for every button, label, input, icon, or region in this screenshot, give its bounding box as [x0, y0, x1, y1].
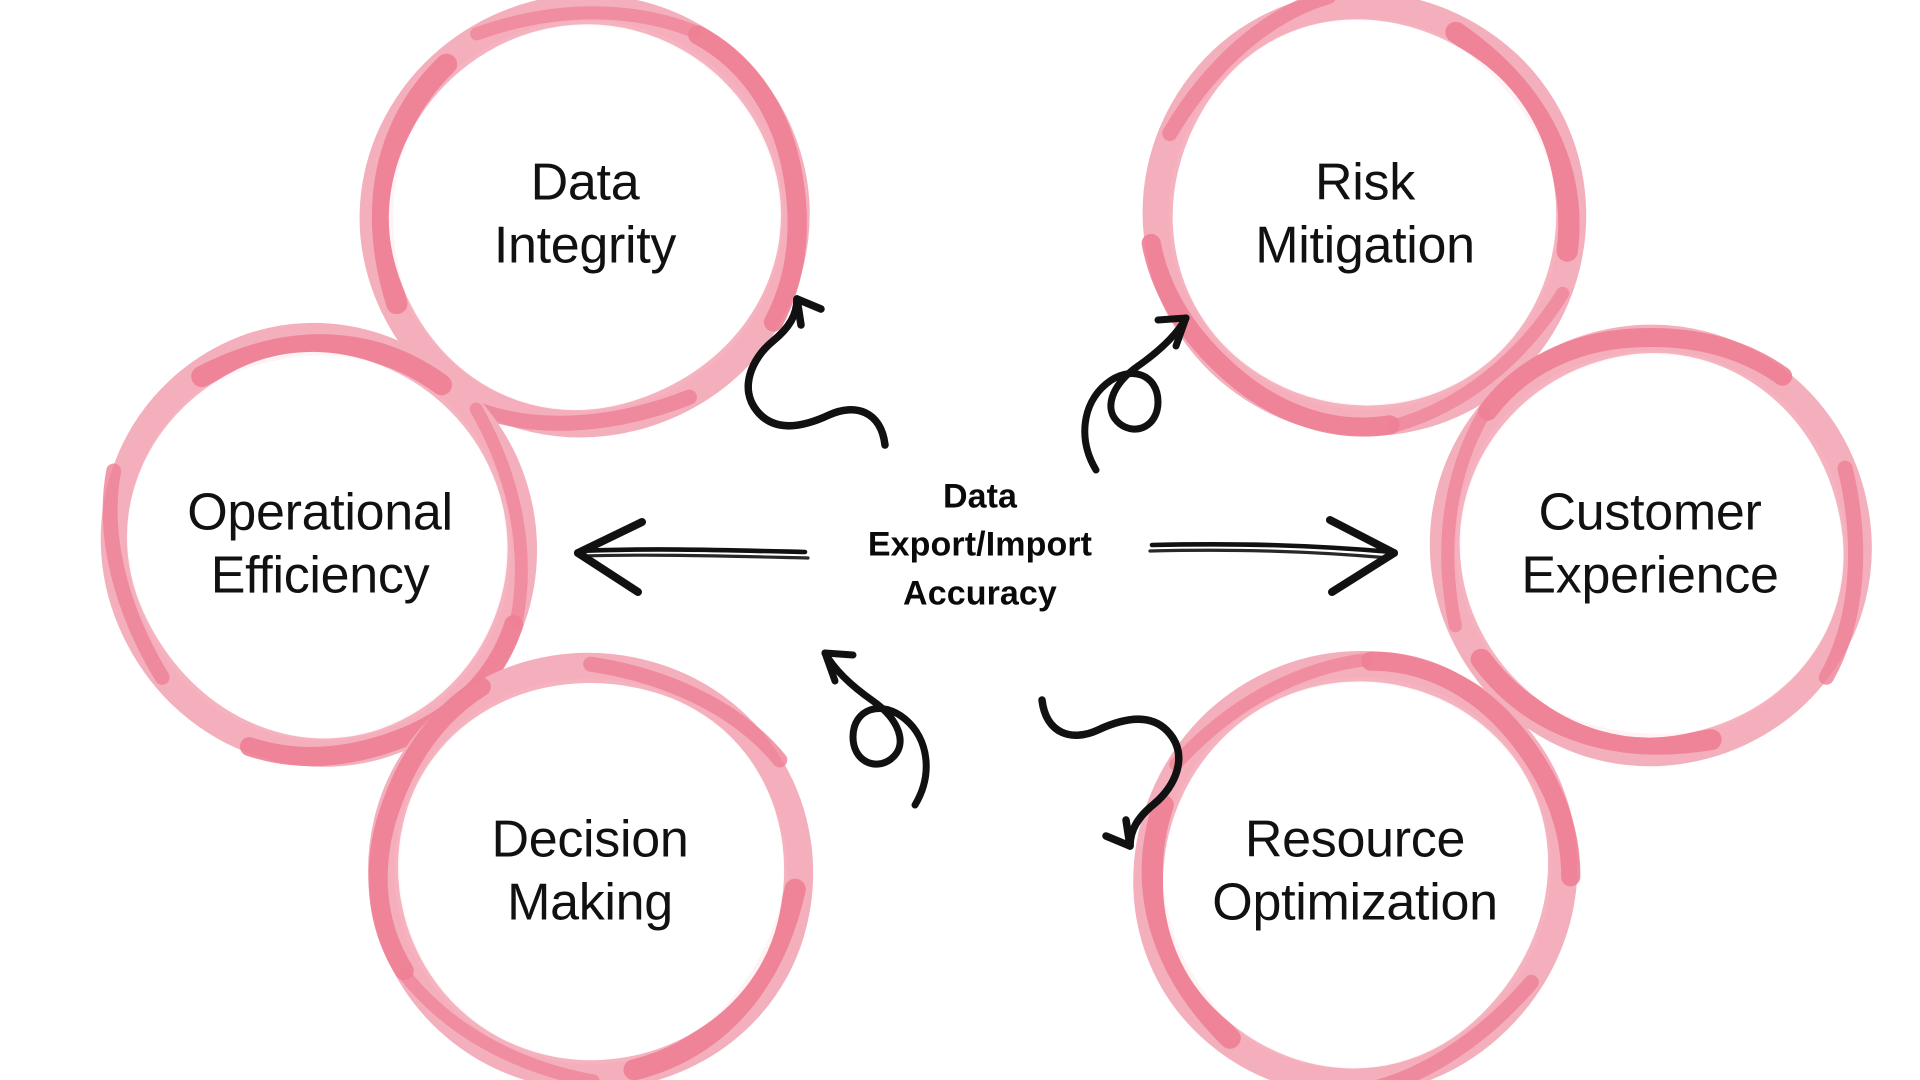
- diagram-canvas: Data Integrity Risk Mitigation Operation…: [0, 0, 1920, 1080]
- node-circle-operational-efficiency[interactable]: [48, 270, 591, 820]
- connector-to-decision-making: [825, 653, 926, 805]
- connector-to-operational-efficiency: [578, 522, 808, 592]
- connector-to-risk-mitigation: [1085, 318, 1186, 470]
- connector-to-customer-experience: [1150, 520, 1394, 592]
- node-circle-resource-optimization[interactable]: [1060, 578, 1651, 1080]
- node-circle-decision-making[interactable]: [332, 616, 849, 1080]
- node-circle-risk-mitigation[interactable]: [1071, 0, 1658, 508]
- diagram-artwork: [0, 0, 1920, 1080]
- node-circle-data-integrity[interactable]: [329, 0, 841, 469]
